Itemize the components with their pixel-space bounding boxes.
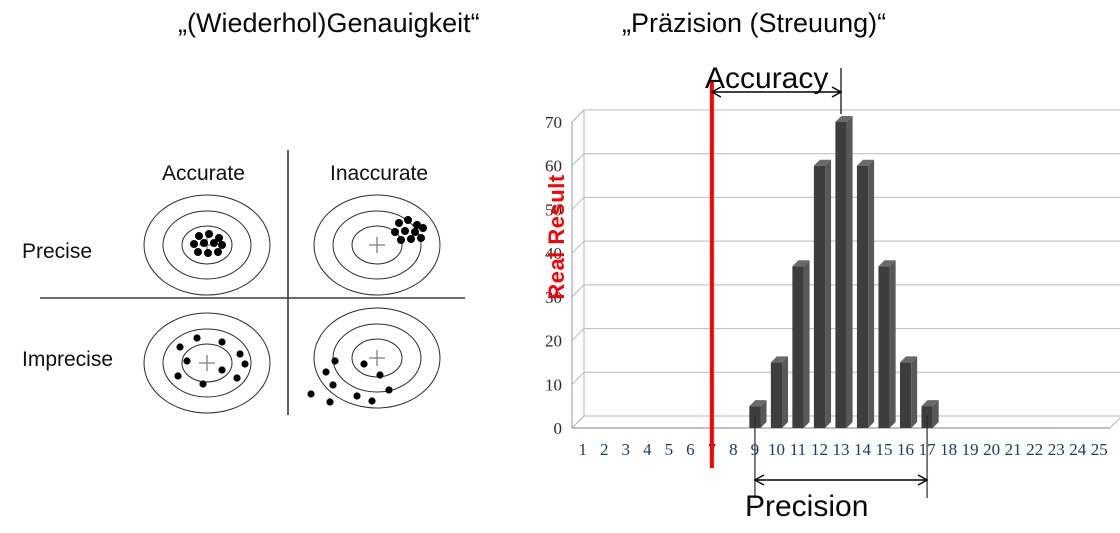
bar-side: [825, 160, 831, 428]
x-tick-label: 8: [729, 440, 738, 459]
bullseye-cross-icon: [369, 350, 385, 366]
y-tick-label: 0: [554, 419, 563, 438]
y-axis-top-connector: [572, 110, 584, 122]
bullseye-cross-icon: [369, 237, 385, 253]
bar-chart-svg: 010203040506070 123456789101112131415161…: [510, 40, 1120, 500]
x-axis-tick-labels: 1234567891011121314151617181920212223242…: [579, 440, 1108, 459]
bar-side: [911, 356, 917, 428]
bar-side: [782, 356, 788, 428]
bar: [792, 266, 803, 428]
bar: [814, 166, 825, 428]
x-tick-label: 5: [665, 440, 674, 459]
x-tick-label: 24: [1069, 440, 1087, 459]
quadrant-row-label-imprecise: Imprecise: [22, 348, 113, 372]
bar-side: [804, 260, 810, 428]
x-tick-label: 10: [768, 440, 785, 459]
real-result-annotation-label: Real Result: [544, 157, 570, 317]
left-section-title: „(Wiederhol)Genauigkeit“: [178, 6, 480, 40]
quadrant-row-label-precise: Precise: [22, 240, 92, 264]
x-tick-label: 23: [1048, 440, 1065, 459]
y-tick-label: 20: [545, 332, 562, 351]
x-tick-label: 12: [811, 440, 828, 459]
quadrant-column-label-accurate: Accurate: [162, 162, 245, 186]
x-tick-label: 6: [686, 440, 695, 459]
right-section-title: „Präzision (Streuung)“: [622, 6, 886, 40]
x-tick-label: 25: [1091, 440, 1108, 459]
precision-annotation-label: Precision: [745, 490, 868, 524]
accuracy-annotation-label: Accuracy: [705, 62, 828, 96]
x-tick-label: 15: [876, 440, 893, 459]
x-tick-label: 13: [833, 440, 850, 459]
gridline-depth-tick: [572, 197, 584, 209]
x-tick-label: 4: [643, 440, 652, 459]
gridline-depth-tick: [572, 154, 584, 166]
bar: [857, 166, 868, 428]
x-tick-label: 2: [600, 440, 609, 459]
bullseye-cross-icon: [199, 355, 215, 371]
bar: [878, 266, 889, 428]
chart-bars: [749, 116, 938, 428]
x-tick-label: 20: [983, 440, 1000, 459]
quadrant-column-label-inaccurate: Inaccurate: [330, 162, 428, 186]
target-inaccurate-precise: [314, 195, 440, 295]
x-tick-label: 18: [940, 440, 957, 459]
x-tick-label: 14: [854, 440, 872, 459]
x-tick-label: 11: [790, 440, 806, 459]
accuracy-precision-quadrant-diagram: Accurate Inaccurate Precise Imprecise: [0, 140, 500, 440]
gridline-depth-tick: [572, 285, 584, 297]
target-inaccurate-imprecise: [307, 308, 440, 408]
bar-side: [890, 260, 896, 428]
plot-floor-right-edge: [1110, 416, 1120, 428]
gridline-depth-tick: [572, 241, 584, 253]
gridline-depth-tick: [572, 372, 584, 384]
y-tick-label: 10: [545, 375, 562, 394]
dot-cluster: [391, 216, 427, 244]
bar-side: [847, 116, 853, 428]
dot-cluster: [174, 334, 248, 387]
target-accurate-imprecise: [144, 313, 270, 413]
x-tick-label: 22: [1026, 440, 1043, 459]
bar: [900, 362, 911, 428]
x-tick-label: 1: [579, 440, 588, 459]
bar: [835, 122, 846, 428]
x-tick-label: 3: [622, 440, 631, 459]
target-accurate-precise: [144, 195, 270, 295]
dot-cluster: [190, 230, 226, 257]
x-tick-label: 16: [897, 440, 914, 459]
bar-side: [868, 160, 874, 428]
bar: [771, 362, 782, 428]
x-tick-label: 21: [1005, 440, 1022, 459]
x-tick-label: 19: [962, 440, 979, 459]
dot-cluster: [307, 357, 392, 405]
precision-accuracy-bar-chart: 010203040506070 123456789101112131415161…: [510, 40, 1120, 533]
gridline-depth-tick: [572, 329, 584, 341]
y-tick-label: 70: [545, 113, 562, 132]
